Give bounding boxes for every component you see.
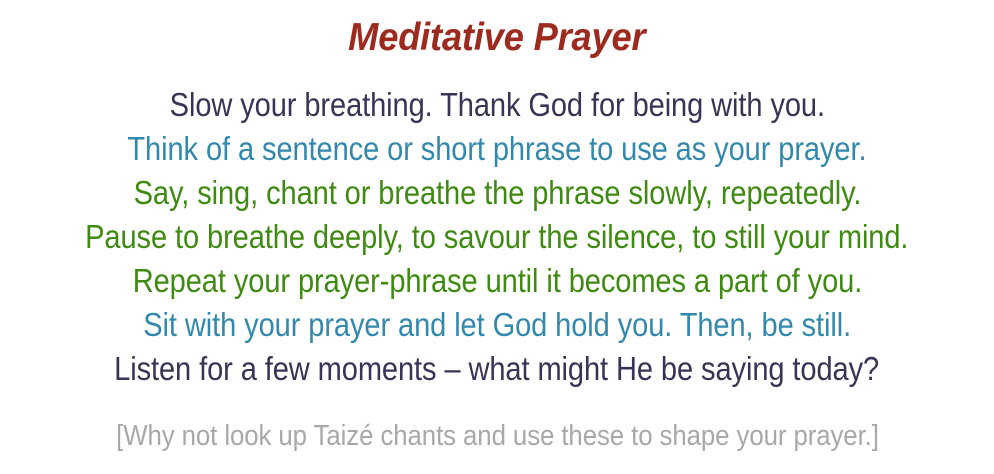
prayer-step-line: Sit with your prayer and let God hold yo…	[143, 303, 851, 347]
prayer-step-line: Listen for a few moments – what might He…	[115, 347, 880, 391]
footnote-text: [Why not look up Taizé chants and use th…	[116, 418, 879, 454]
prayer-step-line: Pause to breathe deeply, to savour the s…	[85, 215, 908, 259]
slide-canvas: Meditative Prayer Slow your breathing. T…	[0, 0, 994, 474]
prayer-steps-list: Slow your breathing. Thank God for being…	[0, 83, 994, 391]
prayer-step-line: Repeat your prayer-phrase until it becom…	[132, 259, 861, 303]
prayer-step-line: Think of a sentence or short phrase to u…	[127, 127, 866, 171]
page-title: Meditative Prayer	[348, 18, 645, 57]
prayer-step-line: Say, sing, chant or breathe the phrase s…	[133, 171, 861, 215]
prayer-step-line: Slow your breathing. Thank God for being…	[169, 83, 824, 127]
